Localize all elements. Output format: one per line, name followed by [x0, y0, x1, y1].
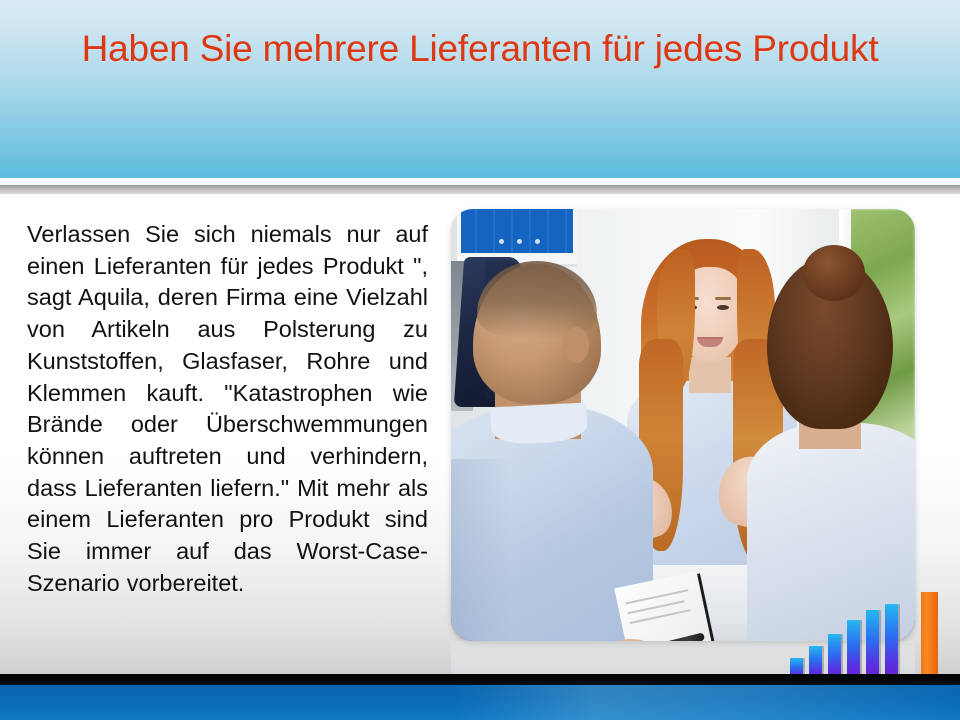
woman-center-eyebrow: [715, 297, 731, 300]
decoration-bar: [866, 610, 879, 680]
slide: Haben Sie mehrere Lieferanten für jedes …: [0, 0, 960, 720]
binder-label-dot: [535, 239, 540, 244]
header-highlight-line: [0, 178, 960, 185]
binder-label-dot: [499, 239, 504, 244]
decoration-bar: [847, 620, 860, 680]
blue-binders: [461, 209, 573, 253]
slide-title: Haben Sie mehrere Lieferanten für jedes …: [60, 22, 900, 75]
bar-chart-decoration: [790, 592, 942, 680]
woman-center-eye: [717, 305, 729, 310]
decoration-bar: [885, 604, 898, 680]
orange-accent-bar: [921, 592, 938, 686]
woman-right-hair-bun: [803, 245, 865, 301]
body-paragraph: Verlassen Sie sich niemals nur auf einen…: [27, 219, 428, 599]
man-shoulder-shadow: [451, 459, 511, 641]
footer-dark-band: [0, 674, 960, 685]
meeting-photo: [451, 209, 915, 641]
man-ear: [563, 327, 589, 363]
binder-label-dot: [517, 239, 522, 244]
footer-sheen: [455, 685, 960, 720]
header-shadow-band: [0, 185, 960, 194]
